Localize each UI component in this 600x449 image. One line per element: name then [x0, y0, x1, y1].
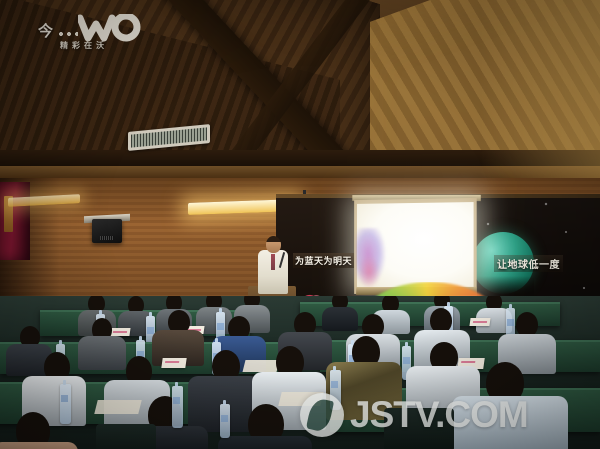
attendee-body [322, 307, 358, 331]
name-card [469, 318, 490, 326]
jstv-watermark: JSTV.COM [300, 393, 528, 437]
attendee-body [78, 336, 126, 370]
water-bottle [60, 384, 71, 424]
logo-slogan: 精彩在沃 [60, 40, 108, 51]
logo-cn-character: 今 [38, 20, 53, 41]
name-card [109, 328, 130, 336]
jstv-watermark-text: JSTV.COM [350, 394, 528, 436]
handout-paper [94, 400, 141, 414]
attendee-body [218, 436, 312, 449]
jstv-logo-icon [300, 393, 344, 437]
water-bottle [172, 386, 183, 428]
ceiling-light-glow [480, 0, 600, 182]
stage-banner-right-text: 让地球低一度 [494, 255, 563, 272]
broadcaster-logo: 今 精彩在沃 [36, 8, 146, 56]
photo-frame: 为蓝天为明天 让地球低一度 [0, 0, 600, 449]
attendee-hand [0, 442, 78, 449]
handout-paper [243, 360, 280, 372]
presenter-tie [271, 254, 275, 270]
chair-back [96, 424, 156, 449]
stage-banner-left-text: 为蓝天为明天 [293, 253, 354, 268]
name-card [161, 358, 186, 368]
logo-dots-icon [58, 32, 78, 36]
water-bottle [220, 404, 230, 438]
wall-loudspeaker [92, 219, 122, 243]
presenter-head [266, 236, 281, 253]
